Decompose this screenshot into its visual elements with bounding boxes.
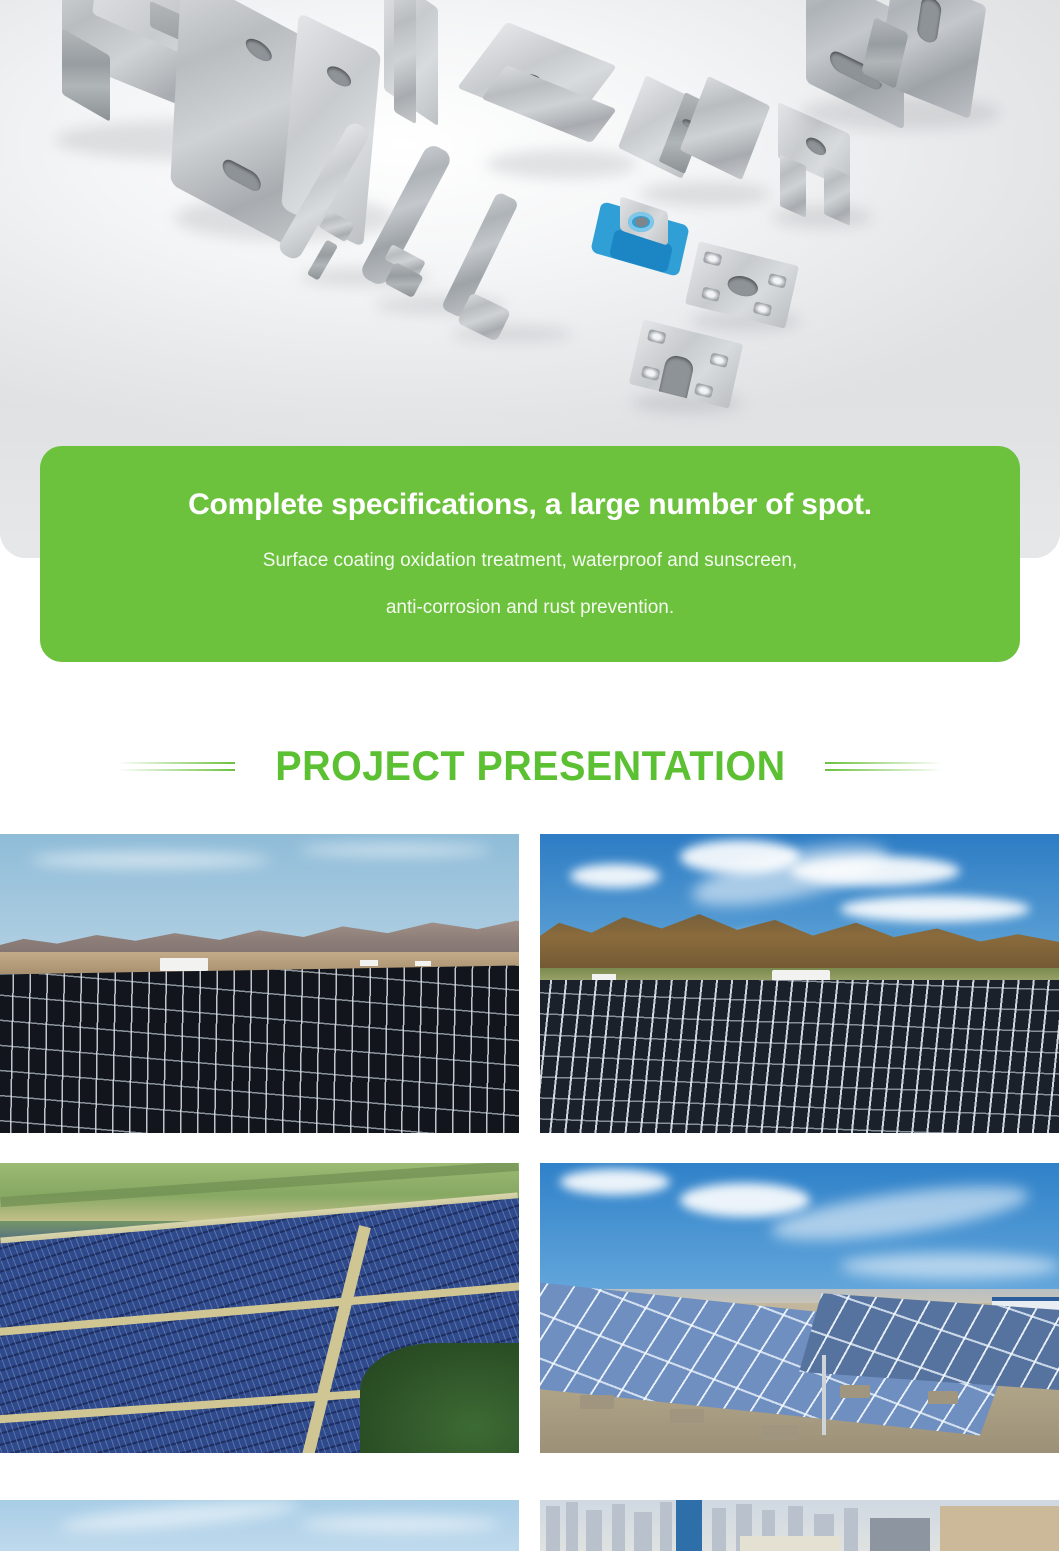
urban-tower-1 — [546, 1506, 560, 1551]
desert-building-small-1 — [360, 960, 378, 966]
urban-tower-5 — [634, 1512, 652, 1551]
grounding-serration2-tr — [709, 352, 729, 368]
desert-cloud-1 — [30, 852, 270, 868]
project-photo-plateau-array[interactable] — [540, 834, 1059, 1133]
l-bracket-large-hole-top — [245, 34, 272, 65]
callout-subtitle-line-2: anti-corrosion and rust prevention. — [40, 584, 1020, 631]
grounding-serration-tr — [767, 273, 787, 289]
end-clamp-u-leg-left — [780, 154, 806, 218]
project-photo-grid — [0, 834, 1060, 1551]
urban-tower-12 — [844, 1508, 858, 1551]
urban-tower-7 — [712, 1508, 726, 1551]
plateau-cloud-3 — [570, 864, 660, 888]
gm-ballast-block-3 — [762, 1425, 798, 1440]
specifications-callout-card: Complete specifications, a large number … — [40, 446, 1020, 662]
urban-tower-6 — [660, 1502, 672, 1551]
desert-panel-field — [0, 965, 519, 1133]
callout-subtitle-line-1: Surface coating oxidation treatment, wat… — [40, 537, 1020, 584]
grounding-serration-br — [753, 301, 773, 317]
project-photo-ground-mount-rows[interactable] — [540, 1163, 1059, 1453]
grounding-plate-u-slot — [659, 353, 696, 398]
callout-title: Complete specifications, a large number … — [40, 488, 1020, 521]
urban-tower-4 — [612, 1504, 625, 1551]
project-presentation-heading: PROJECT PRESENTATION — [0, 716, 1060, 816]
gm-ballast-block-1 — [580, 1395, 614, 1409]
gm-cloud-2 — [680, 1183, 810, 1217]
grounding-serration-tl — [703, 251, 723, 267]
gm-cloud-1 — [560, 1169, 670, 1195]
urban-tower-2 — [566, 1502, 578, 1551]
desert-substation-building — [160, 958, 208, 971]
grounding-serration-bl — [701, 286, 721, 302]
project-photo-sky-crop[interactable] — [0, 1500, 519, 1551]
l-bracket-large-flange-hole — [326, 62, 351, 90]
plateau-cloud-4 — [840, 896, 1030, 922]
urban-low-building-1 — [740, 1536, 840, 1551]
heading-ornament-right-icon — [825, 759, 943, 773]
section-title: PROJECT PRESENTATION — [275, 742, 785, 790]
grounding-serration2-br — [694, 383, 714, 399]
project-photo-urban-skyline[interactable] — [540, 1500, 1059, 1551]
grounding-serration2-bl — [641, 365, 661, 381]
callout-subtitle: Surface coating oxidation treatment, wat… — [40, 537, 1020, 631]
project-photo-desert-array[interactable] — [0, 834, 519, 1133]
desert-building-small-2 — [415, 961, 431, 966]
gm-ballast-block-5 — [928, 1391, 958, 1404]
end-clamp-u-hole — [806, 134, 826, 158]
heading-ornament-left-icon — [117, 759, 235, 773]
mid-clamp-shadow — [486, 150, 636, 178]
urban-plant-block — [870, 1518, 930, 1551]
plateau-panel-field — [540, 980, 1059, 1133]
gm-support-post — [822, 1355, 826, 1435]
grounding-serration2-tl — [647, 329, 667, 345]
urban-tower-3 — [586, 1510, 602, 1551]
desert-cloud-2 — [300, 844, 490, 856]
aerial-forest — [360, 1343, 519, 1453]
urban-blue-silo — [676, 1500, 702, 1551]
end-clamp-w-right-wing — [680, 76, 771, 180]
gm-ballast-block-2 — [670, 1409, 704, 1423]
t-bolt-thread-hole — [635, 217, 648, 227]
l-bracket-large-slot-bottom — [222, 156, 261, 195]
thin-plate-edge — [394, 0, 416, 124]
end-clamp-w-shadow — [640, 182, 770, 206]
gm-ballast-block-4 — [840, 1385, 870, 1398]
grounding-plate-oval-hole — [726, 273, 760, 299]
sky-crop-wisp-2 — [300, 1516, 500, 1532]
base-plate-upright-slot — [916, 0, 942, 46]
project-photo-aerial-farmland[interactable] — [0, 1163, 519, 1453]
urban-tan-facility — [940, 1506, 1059, 1551]
gm-cirrus-2 — [840, 1253, 1059, 1279]
